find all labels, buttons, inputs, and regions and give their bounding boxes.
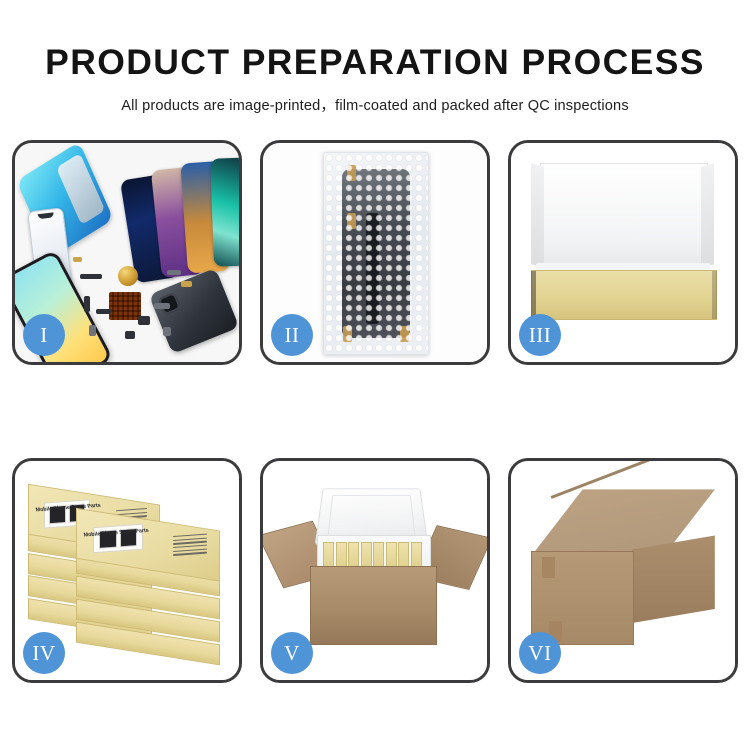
panel-badge-5: V <box>271 632 313 674</box>
process-panel-3[interactable]: III <box>508 140 738 365</box>
gold-contact-part <box>181 281 192 287</box>
kraft-box-base <box>531 270 717 320</box>
process-panel-1[interactable]: I <box>12 140 242 365</box>
speaker-component-icon <box>118 266 138 286</box>
panel-badge-3: III <box>519 314 561 356</box>
adhesive-tab-top <box>347 165 356 181</box>
camera-module-part <box>89 325 96 336</box>
carton-side-face <box>632 535 715 623</box>
process-panel-2[interactable]: II <box>260 140 490 365</box>
process-panel-4[interactable]: Mobile Phone Spare Parts Mobile Phone Sp… <box>12 458 242 683</box>
process-panel-5[interactable]: V <box>260 458 490 683</box>
phone-display-teal <box>211 158 239 267</box>
flex-cable-part <box>80 274 102 279</box>
vibrator-part <box>138 316 150 325</box>
adhesive-tab-bottom-right <box>400 326 409 342</box>
infographic-root: PRODUCT PREPARATION PROCESS All products… <box>0 0 750 750</box>
page-title: PRODUCT PREPARATION PROCESS <box>0 0 750 83</box>
connector-part <box>167 270 181 275</box>
ribbon-cable-part <box>96 309 111 314</box>
screw-set-part <box>163 327 171 336</box>
header: PRODUCT PREPARATION PROCESS All products… <box>0 0 750 115</box>
box-lid-left-flap <box>531 163 544 268</box>
panel-badge-2: II <box>271 314 313 356</box>
adhesive-tab-bottom-left <box>343 326 352 342</box>
carton-tape-upper <box>542 557 555 578</box>
bubble-wrap-bag <box>323 152 428 355</box>
button-flex-part <box>84 296 90 312</box>
small-module-part <box>125 331 135 339</box>
sim-tray-part <box>154 303 170 309</box>
box-lid-right-flap <box>701 163 714 268</box>
process-panel-6[interactable]: VI <box>508 458 738 683</box>
cardboard-carton-open <box>310 566 437 645</box>
box-white-lid <box>540 163 708 270</box>
box-label-artwork-front <box>93 523 143 552</box>
gold-pin-part <box>73 257 82 262</box>
page-subtitle: All products are image-printed，film-coat… <box>0 83 750 115</box>
adhesive-tab-mid <box>347 213 356 229</box>
panel-badge-6: VI <box>519 632 561 674</box>
panel-badge-4: IV <box>23 632 65 674</box>
chip-grid-component-icon <box>109 292 141 320</box>
box-stack-group: Mobile Phone Spare Parts Mobile Phone Sp… <box>28 487 225 662</box>
process-panel-grid: I II <box>12 140 738 700</box>
wrapped-flex-cable <box>366 213 379 324</box>
panel-badge-1: I <box>23 314 65 356</box>
phone-lineup-group <box>140 158 239 281</box>
box-label-spec-lines-front <box>172 533 206 555</box>
